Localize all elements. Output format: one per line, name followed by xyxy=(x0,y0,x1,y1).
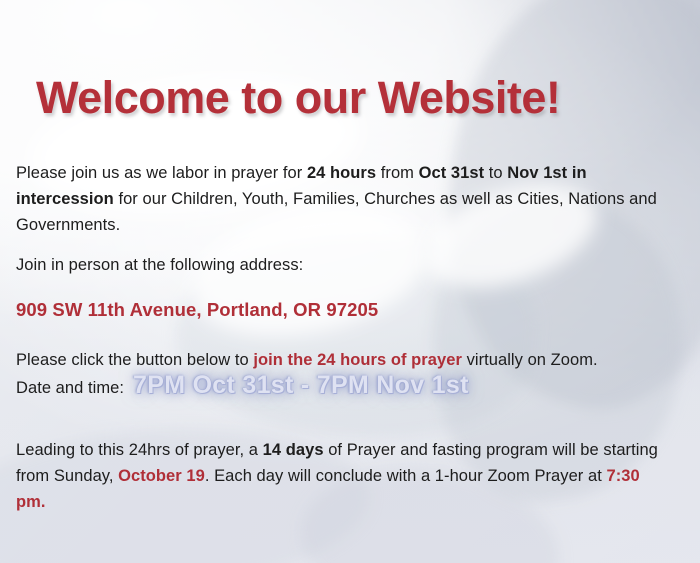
page-title: Welcome to our Website! xyxy=(36,74,560,121)
date-and-time-row: Date and time: 7PM Oct 31st - 7PM Nov 1s… xyxy=(16,370,668,401)
intro-text-1: Please join us as we labor in prayer for xyxy=(16,164,307,182)
date-and-time-label: Date and time: xyxy=(16,375,124,401)
address-lead-text: Join in person at the following address: xyxy=(16,252,668,278)
intro-text-2: from xyxy=(376,164,418,182)
join-prayer-link[interactable]: join the 24 hours of prayer xyxy=(253,351,462,369)
zoom-text-2: virtually on Zoom. xyxy=(462,351,598,369)
leading-bold-days: 14 days xyxy=(263,441,324,459)
intro-bold-start-date: Oct 31st xyxy=(419,164,485,182)
venue-address: 909 SW 11th Avenue, Portland, OR 97205 xyxy=(16,297,668,323)
zoom-text-1: Please click the button below to xyxy=(16,351,253,369)
leading-text-1: Leading to this 24hrs of prayer, a xyxy=(16,441,263,459)
intro-bold-hours: 24 hours xyxy=(307,164,376,182)
welcome-page: Welcome to our Website! Please join us a… xyxy=(0,0,700,563)
zoom-instruction-paragraph: Please click the button below to join th… xyxy=(16,347,668,373)
intro-paragraph: Please join us as we labor in prayer for… xyxy=(16,160,668,238)
fasting-program-paragraph: Leading to this 24hrs of prayer, a 14 da… xyxy=(16,437,668,515)
leading-text-3: . Each day will conclude with a 1-hour Z… xyxy=(205,467,607,485)
intro-text-3: to xyxy=(484,164,507,182)
program-start-date: October 19 xyxy=(118,467,205,485)
date-and-time-value: 7PM Oct 31st - 7PM Nov 1st xyxy=(133,370,469,400)
